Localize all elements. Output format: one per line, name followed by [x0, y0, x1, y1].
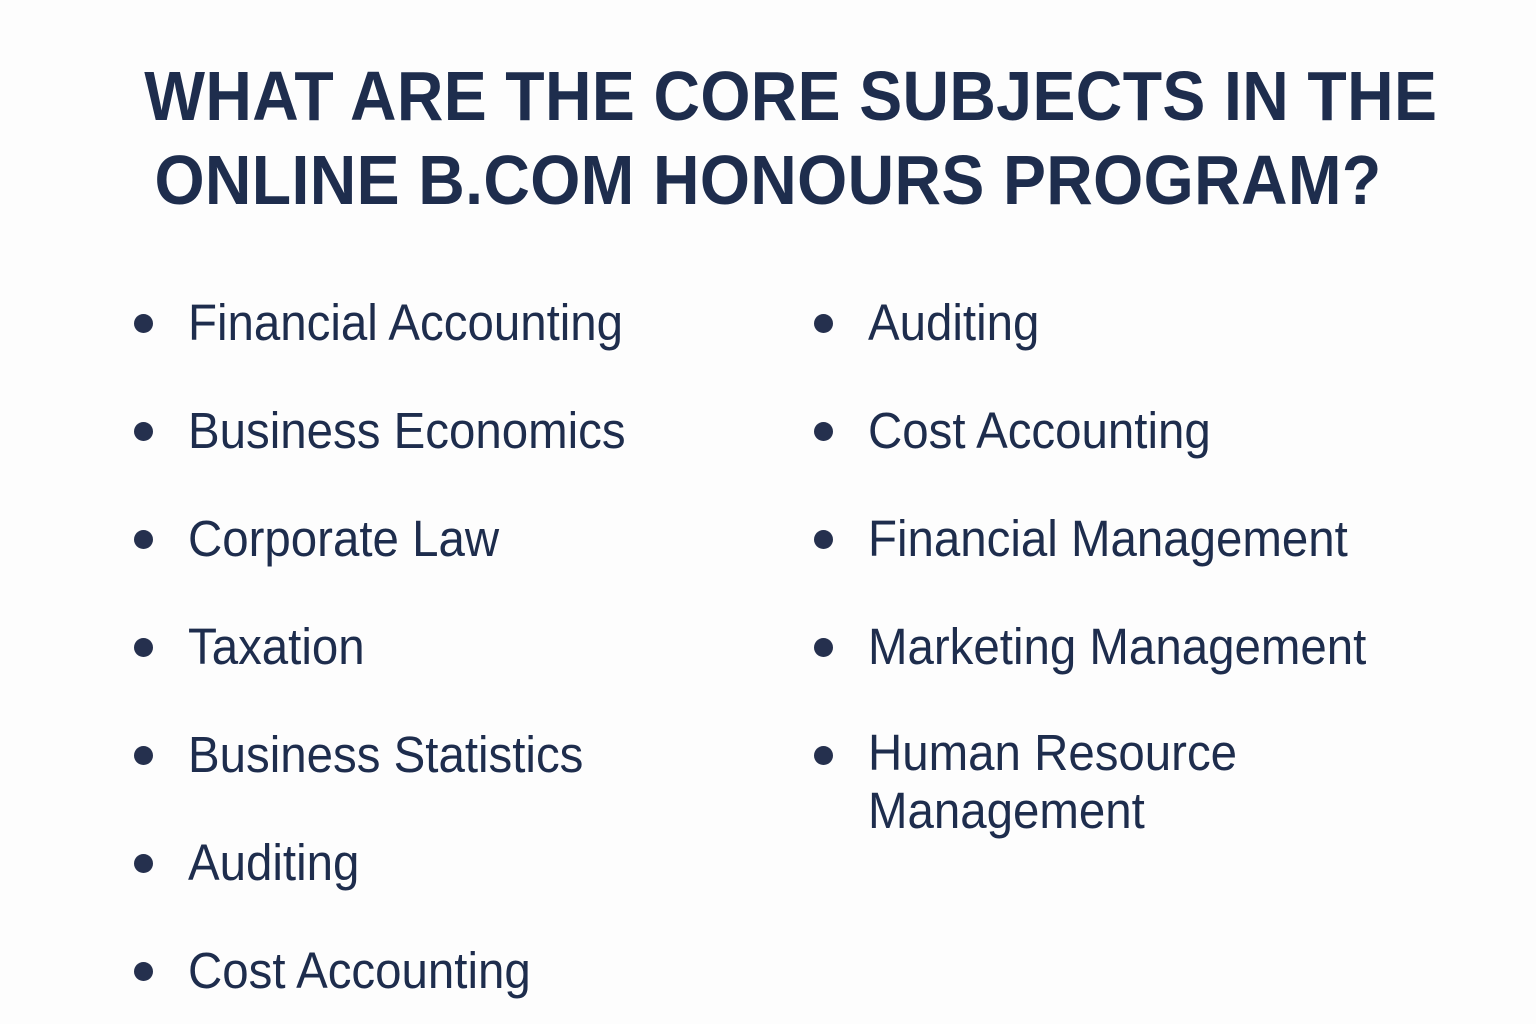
bullet-icon [814, 530, 833, 549]
subject-label: Financial Management [868, 508, 1426, 569]
list-item: Cost Accounting [128, 940, 768, 1001]
bullet-icon [814, 746, 833, 765]
page-title-line-1: WHAT ARE THE CORE SUBJECTS IN THE [144, 54, 1392, 138]
list-item: Marketing Management [808, 616, 1468, 677]
page-title-line-2: ONLINE B.COM HONOURS PROGRAM? [144, 138, 1392, 222]
subject-label: Cost Accounting [868, 400, 1426, 461]
bullet-icon [134, 314, 153, 333]
list-item: Auditing [128, 832, 768, 893]
list-item: Auditing [808, 292, 1468, 353]
subject-list-right: Auditing Cost Accounting Financial Manag… [808, 292, 1468, 840]
subject-label: Corporate Law [188, 508, 727, 569]
subject-label: Cost Accounting [188, 940, 727, 1001]
bullet-icon [134, 422, 153, 441]
subject-label: Financial Accounting [188, 292, 727, 353]
list-item: Cost Accounting [808, 400, 1468, 461]
subject-list-left: Financial Accounting Business Economics … [128, 292, 768, 1001]
subject-label: Business Statistics [188, 724, 727, 785]
bullet-icon [134, 746, 153, 765]
list-item: Business Statistics [128, 724, 768, 785]
list-item: Financial Management [808, 508, 1468, 569]
subject-label: Human Resource Management [868, 724, 1268, 840]
bullet-icon [134, 962, 153, 981]
bullet-icon [814, 314, 833, 333]
subject-label: Auditing [868, 292, 1426, 353]
bullet-icon [814, 638, 833, 657]
bullet-icon [134, 854, 153, 873]
list-item: Human Resource Management [808, 724, 1468, 840]
list-item: Corporate Law [128, 508, 768, 569]
subject-label: Business Economics [188, 400, 727, 461]
bullet-icon [814, 422, 833, 441]
subjects-columns: Financial Accounting Business Economics … [0, 292, 1536, 992]
slide-canvas: WHAT ARE THE CORE SUBJECTS IN THE ONLINE… [0, 0, 1536, 1024]
bullet-icon [134, 638, 153, 657]
bullet-icon [134, 530, 153, 549]
list-item: Business Economics [128, 400, 768, 461]
subject-label: Marketing Management [868, 616, 1426, 677]
subjects-column-left: Financial Accounting Business Economics … [128, 292, 768, 1001]
subject-label: Taxation [188, 616, 727, 677]
subjects-column-right: Auditing Cost Accounting Financial Manag… [808, 292, 1468, 840]
list-item: Taxation [128, 616, 768, 677]
list-item: Financial Accounting [128, 292, 768, 353]
page-title: WHAT ARE THE CORE SUBJECTS IN THE ONLINE… [90, 54, 1446, 222]
subject-label: Auditing [188, 832, 727, 893]
